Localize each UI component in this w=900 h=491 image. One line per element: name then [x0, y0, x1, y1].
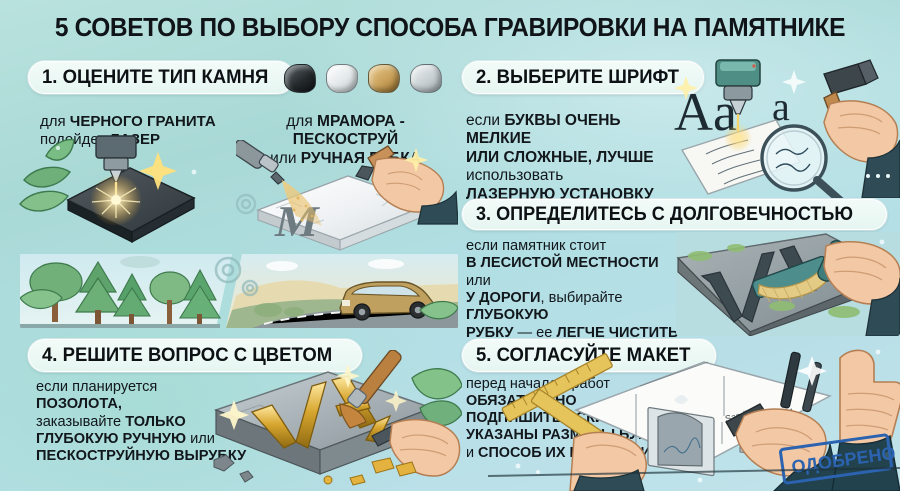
infographic-poster: 5 СОВЕТОВ ПО ВЫБОРУ СПОСОБА ГРАВИРОВКИ Н…	[0, 0, 900, 491]
laser-beam-icon	[90, 174, 142, 226]
s3-l2-normal: или	[466, 273, 491, 289]
sandstone-stone-icon	[368, 64, 398, 91]
s3-l2-bold: В ЛЕСИСТОЙ МЕСТНОСТИ	[466, 255, 659, 271]
s3-l1-normal: если памятник стоит	[466, 238, 681, 255]
leaf-decor-icon	[20, 140, 74, 211]
section-3-copy: если памятник стоит В ЛЕСИСТОЙ МЕСТНОСТИ…	[466, 238, 681, 342]
s3-l3-normal: , выбирайте	[541, 290, 623, 306]
stone-type-icons	[284, 60, 452, 96]
environment-band-svg	[20, 252, 458, 330]
black-granite-stone-icon	[284, 64, 314, 91]
page-title: 5 СОВЕТОВ ПО ВЫБОРУ СПОСОБА ГРАВИРОВКИ Н…	[18, 6, 882, 50]
s1l-line1-bold: ЧЕРНОГО ГРАНИТА	[70, 113, 216, 130]
spark-icon	[797, 356, 827, 386]
font-choice-svg: Aa a	[672, 58, 900, 198]
car-on-road-scene-icon	[226, 254, 458, 328]
sketch-approval-illustration: Sandblast	[488, 348, 900, 491]
s4-l3-normal: заказывайте	[36, 414, 125, 430]
s4-l3-bold: ТОЛЬКО	[125, 414, 186, 430]
font-choice-illustration: Aa a	[672, 58, 900, 198]
gilding-illustration	[200, 350, 462, 490]
section-heading-2: 2. ВЫБЕРИТЕ ШРИФТ	[462, 61, 704, 94]
brush-cleaning-slab-illustration	[676, 232, 900, 336]
section-heading-3-label: 3. ОПРЕДЕЛИТЕСЬ С ДОЛГОВЕЧНОСТЬЮ	[476, 204, 853, 226]
stone-chips-icon	[214, 455, 253, 482]
s1r-line1-normal: для	[286, 113, 317, 130]
brush-cleaning-svg	[676, 232, 900, 336]
sandblast-marble-svg: M	[236, 140, 458, 255]
laser-engraving-black-granite-illustration	[18, 132, 228, 254]
s1l-line1-normal: для	[40, 113, 70, 130]
hand-holding-ruler-icon	[570, 432, 646, 491]
gray-stone-icon	[410, 64, 440, 91]
laser-granite-svg	[18, 132, 228, 254]
s4-l4-bold: ГЛУБОКУЮ РУЧНУЮ	[36, 431, 186, 447]
environment-band-illustration	[20, 252, 458, 330]
white-marble-stone-icon	[326, 64, 356, 91]
section-heading-1: 1. ОЦЕНИТЕ ТИП КАМНЯ	[28, 61, 294, 94]
s3-l3-bold-2: ГЛУБОКУЮ	[466, 307, 548, 323]
s5-l5-normal: и	[466, 445, 478, 461]
sketch-approval-svg: Sandblast	[488, 348, 900, 491]
s2-l1-normal: если	[466, 112, 504, 129]
sandblast-nozzle-icon	[236, 140, 284, 184]
section-2-copy: если БУКВЫ ОЧЕНЬ МЕЛКИЕ ИЛИ СЛОЖНЫЕ, ЛУЧ…	[466, 112, 671, 204]
gilding-svg	[200, 350, 462, 490]
s3-l3-bold-1: У ДОРОГИ	[466, 290, 541, 306]
section-heading-2-label: 2. ВЫБЕРИТЕ ШРИФТ	[476, 66, 679, 89]
section-heading-3: 3. ОПРЕДЕЛИТЕСЬ С ДОЛГОВЕЧНОСТЬЮ	[462, 199, 887, 230]
sandblasting-marble-illustration: M	[236, 140, 458, 255]
section-heading-1-label: 1. ОЦЕНИТЕ ТИП КАМНЯ	[42, 66, 268, 89]
s2-l2-bold: ИЛИ СЛОЖНЫЕ, ЛУЧШЕ	[466, 149, 671, 167]
s2-l3-normal: использовать	[466, 167, 671, 185]
gear-icon	[237, 195, 255, 213]
